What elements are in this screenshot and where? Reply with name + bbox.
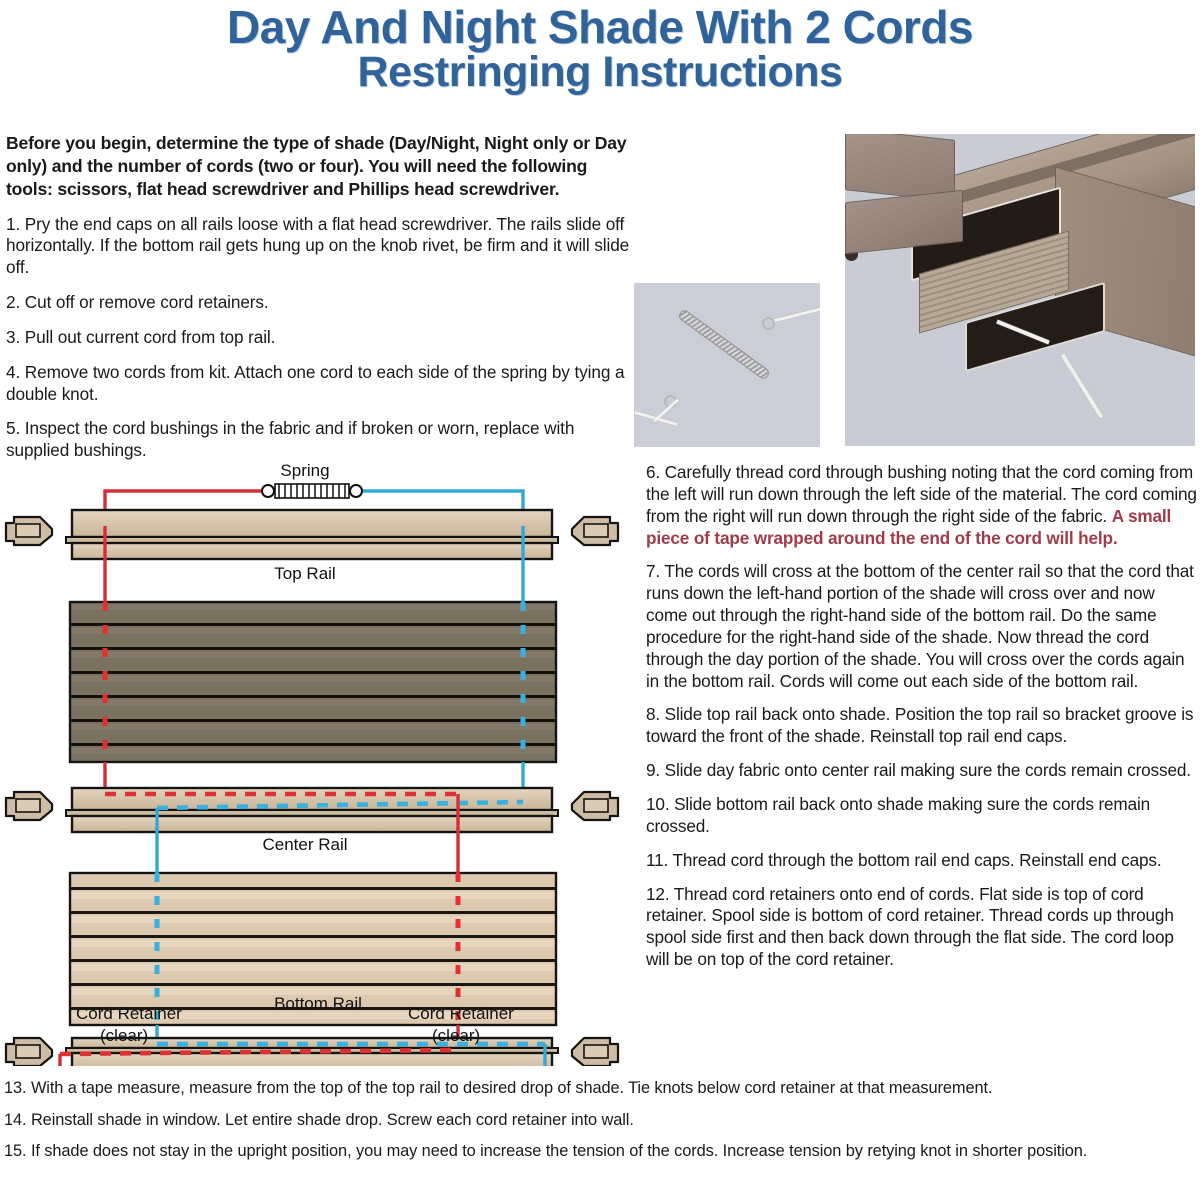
end-cap-icon-bottom-right: [572, 1038, 618, 1066]
step-5: 5. Inspect the cord bushings in the fabr…: [6, 418, 636, 462]
top-rail-group: [66, 510, 558, 559]
step-4: 4. Remove two cords from kit. Attach one…: [6, 362, 636, 406]
intro-and-left-steps: Before you begin, determine the type of …: [6, 132, 636, 462]
day-fabric: [70, 873, 556, 1025]
page-title: Day And Night Shade With 2 Cords Restrin…: [0, 0, 1200, 95]
end-cap-icon-center-left: [6, 792, 52, 820]
step-11: 11. Thread cord through the bottom rail …: [646, 850, 1198, 872]
title-line-secondary: Restringing Instructions: [0, 51, 1200, 95]
end-cap-icon-top-right: [572, 517, 618, 545]
intro-paragraph: Before you begin, determine the type of …: [6, 132, 636, 201]
spring-label: Spring: [280, 461, 329, 480]
end-cap-icon-center-right: [572, 792, 618, 820]
step-15: 15. If shade does not stay in the uprigh…: [4, 1141, 1196, 1162]
spring-with-cords-photo: [634, 283, 820, 447]
rail-and-end-caps-photo: [845, 134, 1195, 446]
step-9: 9. Slide day fabric onto center rail mak…: [646, 760, 1198, 782]
step-13: 13. With a tape measure, measure from th…: [4, 1078, 1196, 1099]
end-cap-icon-bottom-left: [6, 1038, 52, 1066]
step-2: 2. Cut off or remove cord retainers.: [6, 292, 636, 314]
spring-eye-left: [262, 485, 274, 497]
spring-eye-top: [762, 317, 775, 330]
center-rail-label: Center Rail: [262, 835, 347, 854]
end-cap-icon-top-left: [6, 517, 52, 545]
step-10: 10. Slide bottom rail back onto shade ma…: [646, 794, 1198, 838]
top-rail-label: Top Rail: [274, 564, 335, 583]
rail-cord-lower: [1061, 354, 1104, 419]
step-7: 7. The cords will cross at the bottom of…: [646, 561, 1198, 692]
step-6: 6. Carefully thread cord through bushing…: [646, 462, 1198, 549]
shade-restringing-diagram: Spring Top Rail Center Ra: [0, 458, 636, 1066]
step-14: 14. Reinstall shade in window. Let entir…: [4, 1110, 1196, 1131]
step-12: 12. Thread cord retainers onto end of co…: [646, 884, 1198, 971]
step-1: 1. Pry the end caps on all rails loose w…: [6, 214, 636, 280]
title-line-primary: Day And Night Shade With 2 Cords: [0, 4, 1200, 51]
spring-coil: [677, 308, 771, 380]
spring-body: [275, 484, 349, 498]
step-3: 3. Pull out current cord from top rail.: [6, 327, 636, 349]
bottom-steps: 13. With a tape measure, measure from th…: [4, 1078, 1196, 1173]
night-fabric: [70, 602, 556, 762]
step-8: 8. Slide top rail back onto shade. Posit…: [646, 704, 1198, 748]
right-column-steps: 6. Carefully thread cord through bushing…: [646, 462, 1198, 983]
spring-eye-right: [350, 485, 362, 497]
spring-cord-upper: [772, 307, 820, 323]
